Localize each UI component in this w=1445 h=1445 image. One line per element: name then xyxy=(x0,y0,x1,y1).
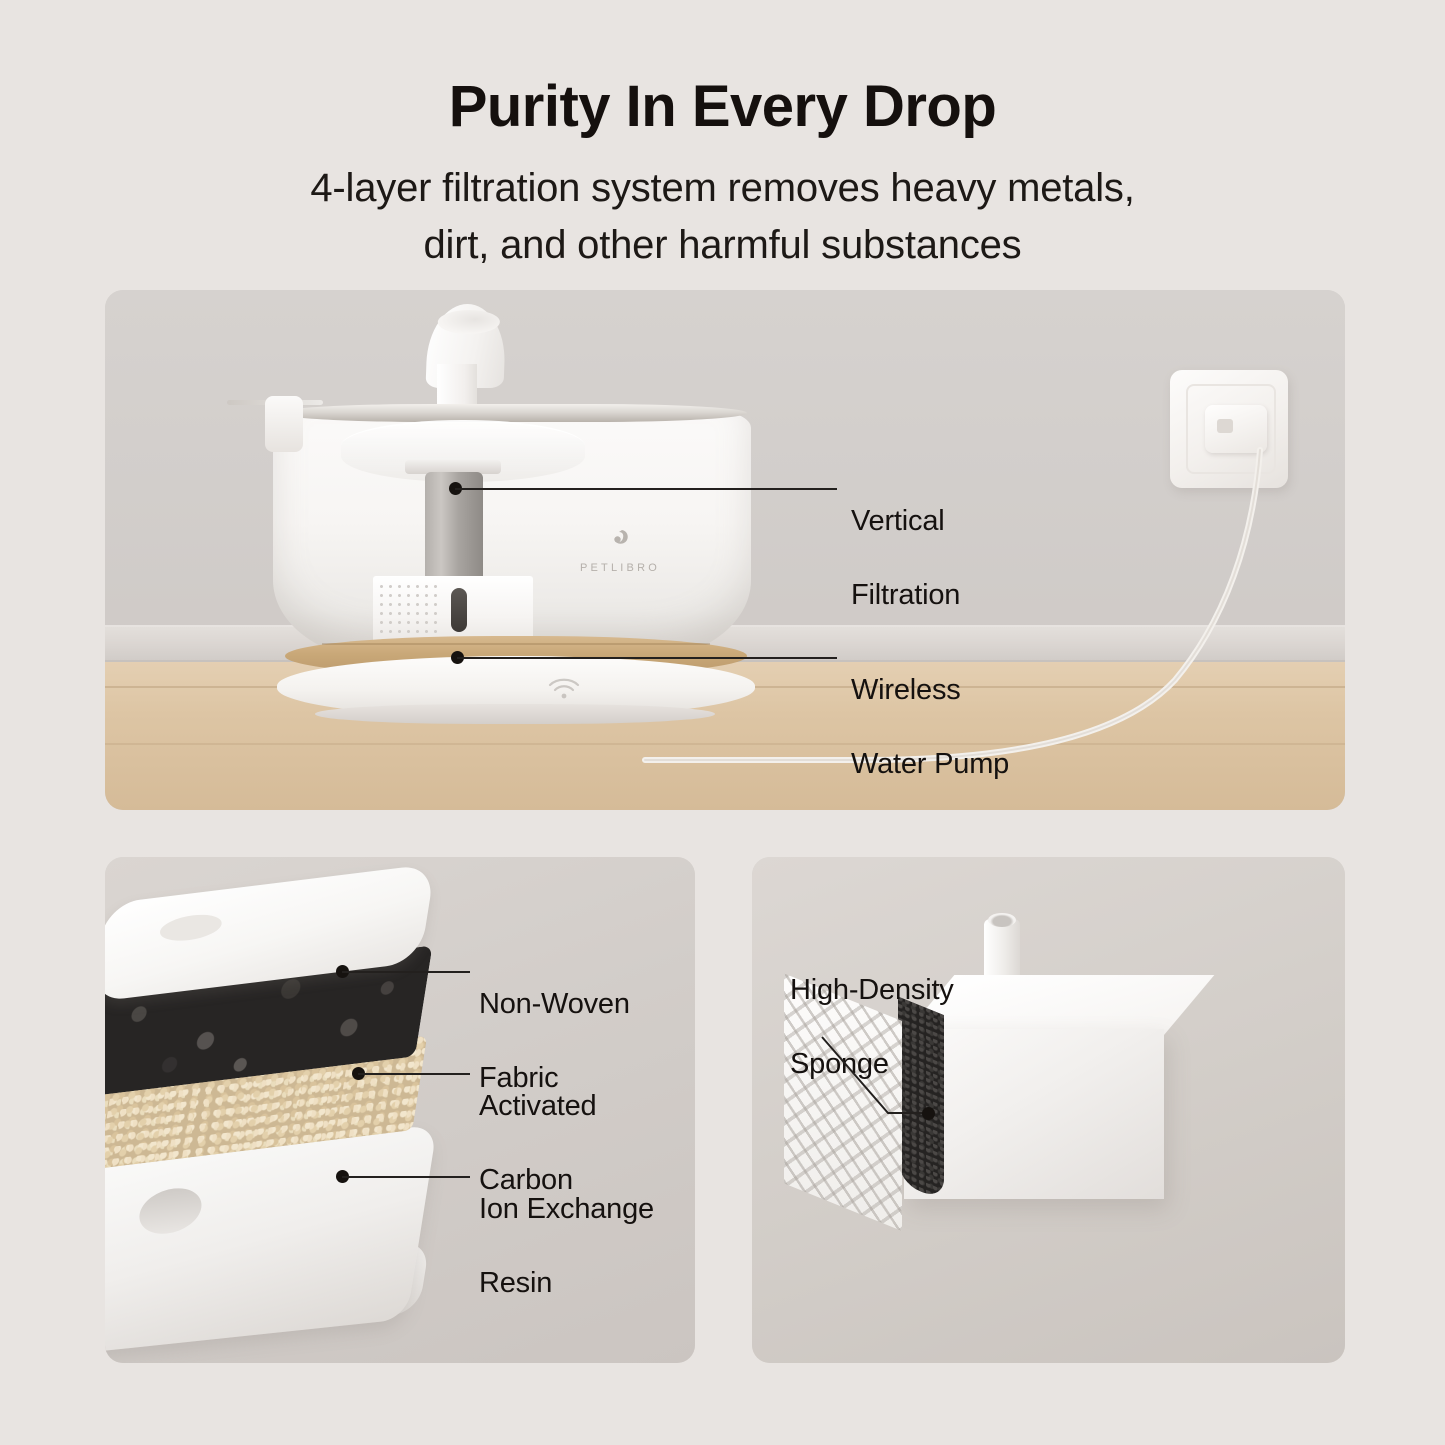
power-plug xyxy=(1205,405,1267,453)
paw-droplet-logo-icon xyxy=(608,528,632,554)
callout-line-ion-exchange-resin xyxy=(342,1176,470,1178)
callout-line-non-woven-fabric xyxy=(342,971,470,973)
wireless-pump-module xyxy=(373,576,533,644)
page-title: Purity In Every Drop xyxy=(0,0,1445,136)
page-subtitle: 4-layer filtration system removes heavy … xyxy=(0,136,1445,274)
callout-wireless-water-pump-line-1: Wireless xyxy=(851,672,1009,709)
callout-ion-exchange-resin-line-1: Ion Exchange xyxy=(479,1191,654,1228)
panel-high-density-sponge: High-Density Sponge xyxy=(752,857,1345,1363)
pump-grid-icon xyxy=(377,582,443,638)
pet-water-fountain: PETLIBRO xyxy=(255,304,775,744)
brand-lockup: PETLIBRO xyxy=(555,528,685,574)
page-subtitle-line-2: dirt, and other harmful substances xyxy=(0,217,1445,274)
callout-activated-carbon-line-1: Activated xyxy=(479,1088,597,1125)
callout-vertical-filtration-line-2: Filtration xyxy=(851,577,960,614)
callout-vertical-filtration-line-1: Vertical xyxy=(851,503,960,540)
brand-name: PETLIBRO xyxy=(555,562,685,574)
callout-label-wireless-water-pump: Wireless Water Pump xyxy=(851,635,1009,810)
callout-line-activated-carbon xyxy=(358,1073,470,1075)
callout-label-ion-exchange-resin: Ion Exchange Resin xyxy=(479,1154,654,1340)
callout-wireless-water-pump-line-2: Water Pump xyxy=(851,746,1009,783)
callout-non-woven-fabric-line-1: Non-Woven xyxy=(479,986,630,1023)
callout-line-wireless-water-pump xyxy=(457,657,837,659)
callout-dot-high-density-sponge xyxy=(922,1107,935,1120)
header: Purity In Every Drop 4-layer filtration … xyxy=(0,0,1445,274)
fountain-handle xyxy=(265,396,303,452)
fountain-rim xyxy=(277,404,747,422)
wifi-icon xyxy=(547,676,581,700)
panel-fountain-overview: PETLIBRO Vertical Filtration Wireless Wa… xyxy=(105,290,1345,810)
page-subtitle-line-1: 4-layer filtration system removes heavy … xyxy=(0,160,1445,217)
callout-ion-exchange-resin-line-2: Resin xyxy=(479,1265,654,1302)
fountain-base-foot xyxy=(315,704,715,724)
callout-line-vertical-filtration xyxy=(455,488,837,490)
pump-sponge-slot xyxy=(451,588,467,632)
callout-label-vertical-filtration: Vertical Filtration xyxy=(851,466,960,652)
callout-line-high-density-sponge xyxy=(752,857,1345,1363)
panel-filter-layers: Non-Woven Fabric Activated Carbon Ion Ex… xyxy=(105,857,695,1363)
